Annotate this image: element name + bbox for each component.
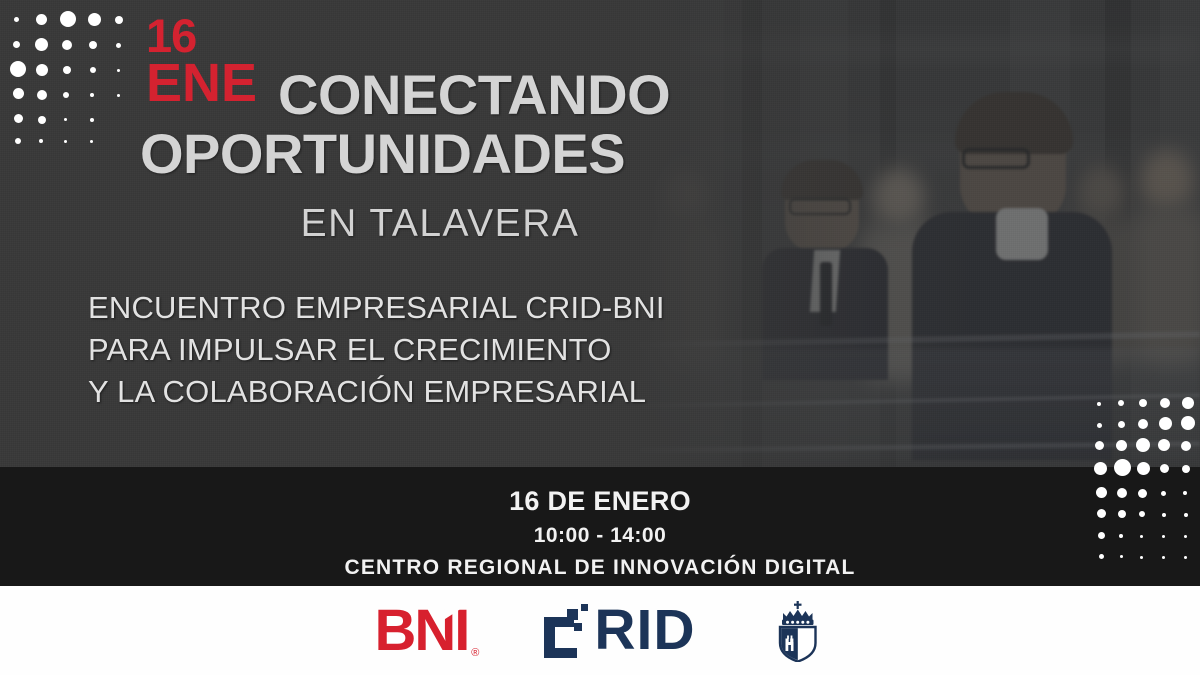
crid-logo: RID (542, 602, 695, 659)
lede-text: ENCUENTRO EMPRESARIAL CRID-BNI PARA IMPU… (88, 287, 665, 413)
event-time: 10:00 - 14:00 (0, 524, 1200, 548)
crid-c-mark-icon (542, 604, 590, 658)
bni-logo: BNI ® (374, 602, 468, 660)
bni-accent-icon (432, 599, 462, 629)
castilla-la-mancha-logo (770, 600, 826, 662)
coat-of-arms-icon (770, 600, 826, 662)
decor-dots-bottom-right (1092, 396, 1200, 572)
lede-line-1: ENCUENTRO EMPRESARIAL CRID-BNI (88, 287, 665, 329)
date-badge-day: 16 (146, 14, 257, 57)
event-date: 16 DE ENERO (0, 486, 1200, 517)
lede-line-2: PARA IMPULSAR EL CRECIMIENTO (88, 329, 665, 371)
headline-line-2: OPORTUNIDADES (140, 125, 670, 182)
bni-registered-mark: ® (471, 648, 479, 659)
logo-footer: BNI ® RID (0, 586, 1200, 675)
lede-line-3: Y LA COLABORACIÓN EMPRESARIAL (88, 371, 665, 413)
headline: CONECTANDO OPORTUNIDADES (140, 66, 670, 182)
info-band-content: 16 DE ENERO 10:00 - 14:00 CENTRO REGIONA… (0, 486, 1200, 580)
headline-line-3: EN TALAVERA (140, 202, 740, 246)
decor-dots-top-left (0, 0, 140, 148)
headline-line-1: CONECTANDO (140, 66, 670, 123)
event-poster: 16 ENE CONECTANDO OPORTUNIDADES EN TALAV… (0, 0, 1200, 675)
info-band: 16 DE ENERO 10:00 - 14:00 CENTRO REGIONA… (0, 467, 1200, 586)
event-venue: CENTRO REGIONAL DE INNOVACIÓN DIGITAL (0, 556, 1200, 580)
crid-logo-text: RID (594, 602, 695, 659)
